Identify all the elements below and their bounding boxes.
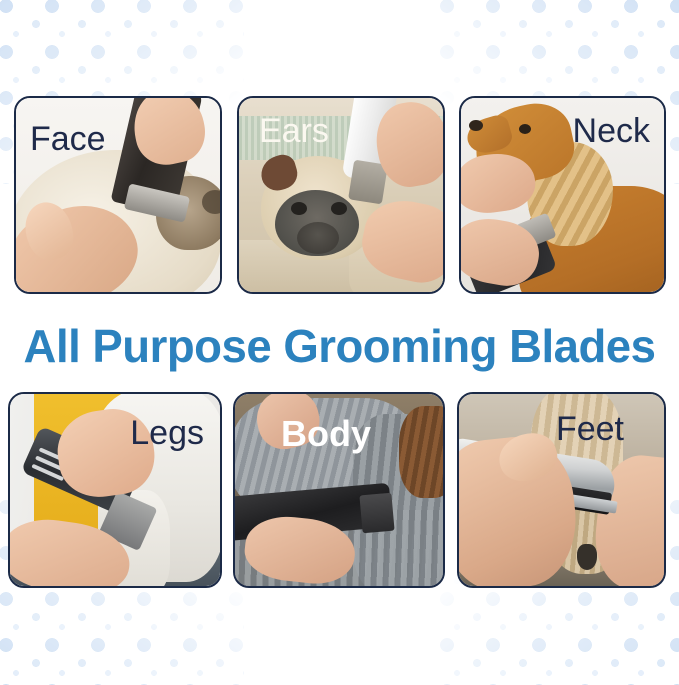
panel-label-legs: Legs <box>130 416 204 450</box>
infographic-page: Face Ears <box>0 0 679 679</box>
headline-title: All Purpose Grooming Blades <box>3 318 675 374</box>
panel-feet[interactable]: Feet <box>457 392 666 588</box>
panel-legs[interactable]: Legs <box>8 392 222 588</box>
panel-label-feet: Feet <box>556 412 624 446</box>
panel-label-ears: Ears <box>259 114 329 148</box>
panel-label-neck: Neck <box>573 114 650 148</box>
panel-face[interactable]: Face <box>14 96 222 294</box>
panel-neck[interactable]: Neck <box>459 96 666 294</box>
panel-label-face: Face <box>30 122 106 156</box>
panel-body[interactable]: Body <box>233 392 445 588</box>
panel-label-body: Body <box>281 416 371 452</box>
panel-ears[interactable]: Ears <box>237 96 445 294</box>
